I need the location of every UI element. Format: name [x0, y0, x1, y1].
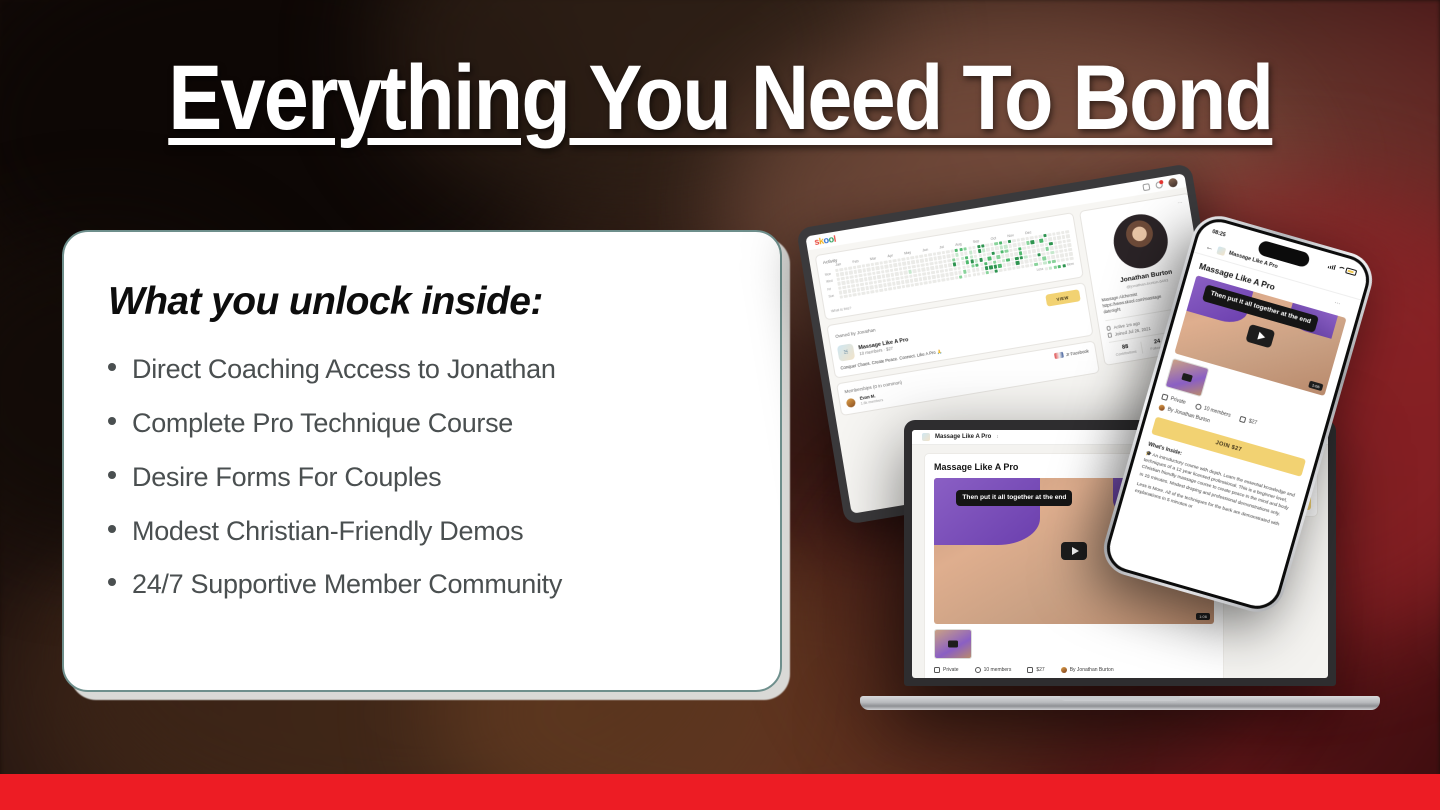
heatmap-cell[interactable] — [924, 258, 928, 262]
heatmap-cell[interactable] — [910, 279, 914, 283]
heatmap-cell[interactable] — [955, 276, 959, 280]
heatmap-cell[interactable] — [994, 265, 998, 269]
heatmap-cell[interactable] — [886, 274, 890, 278]
heatmap-cell[interactable] — [857, 292, 861, 296]
heatmap-cell[interactable] — [929, 257, 933, 261]
heatmap-cell[interactable] — [1047, 233, 1051, 237]
heatmap-cell[interactable] — [941, 278, 945, 282]
heatmap-cell[interactable] — [949, 268, 953, 272]
heatmap-cell[interactable] — [947, 259, 951, 263]
heatmap-cell[interactable] — [933, 257, 937, 261]
heatmap-cell[interactable] — [877, 275, 881, 279]
heatmap-cell[interactable] — [943, 260, 947, 264]
heatmap-cell[interactable] — [1044, 238, 1048, 242]
heatmap-cell[interactable] — [1035, 240, 1039, 244]
heatmap-cell[interactable] — [1039, 235, 1043, 239]
heatmap-cell[interactable] — [968, 274, 972, 278]
heatmap-cell[interactable] — [934, 261, 938, 265]
heatmap-cell[interactable] — [1048, 237, 1052, 241]
heatmap-cell[interactable] — [938, 256, 942, 260]
heatmap-cell[interactable] — [1000, 246, 1004, 250]
heatmap-cell[interactable] — [969, 251, 973, 255]
heatmap-cell[interactable] — [991, 252, 995, 256]
heatmap-cell[interactable] — [1053, 241, 1057, 245]
heatmap-cell[interactable] — [939, 265, 943, 269]
heatmap-cell[interactable] — [992, 256, 996, 260]
heatmap-cell[interactable] — [906, 284, 910, 288]
heatmap-cell[interactable] — [846, 280, 850, 284]
heatmap-cell[interactable] — [1008, 267, 1012, 271]
heatmap-cell[interactable] — [917, 269, 921, 273]
heatmap-cell[interactable] — [1002, 263, 1006, 267]
heatmap-cell[interactable] — [1023, 251, 1027, 255]
heatmap-cell[interactable] — [873, 280, 877, 284]
heatmap-cell[interactable] — [904, 271, 908, 275]
heatmap-cell[interactable] — [926, 267, 930, 271]
heatmap-cell[interactable] — [840, 272, 844, 276]
heatmap-cell[interactable] — [1030, 236, 1034, 240]
heatmap-cell[interactable] — [953, 267, 957, 271]
heatmap-cell[interactable] — [845, 276, 849, 280]
heatmap-cell[interactable] — [916, 264, 920, 268]
heatmap-cell[interactable] — [871, 290, 875, 294]
heatmap-cell[interactable] — [989, 266, 993, 270]
heatmap-cell[interactable] — [1034, 263, 1038, 267]
heatmap-cell[interactable] — [981, 271, 985, 275]
video-thumbnail[interactable] — [1165, 358, 1210, 397]
heatmap-cell[interactable] — [879, 288, 883, 292]
heatmap-cell[interactable] — [956, 257, 960, 261]
heatmap-cell[interactable] — [879, 261, 883, 265]
heatmap-cell[interactable] — [902, 262, 906, 266]
heatmap-cell[interactable] — [913, 269, 917, 273]
heatmap-cell[interactable] — [847, 285, 851, 289]
heatmap-cell[interactable] — [881, 270, 885, 274]
heatmap-cell[interactable] — [896, 277, 900, 281]
heatmap-cell[interactable] — [946, 255, 950, 259]
heatmap-cell[interactable] — [875, 262, 879, 266]
heatmap-cell[interactable] — [960, 257, 964, 261]
heatmap-cell[interactable] — [842, 281, 846, 285]
heatmap-cell[interactable] — [1004, 245, 1008, 249]
heatmap-cell[interactable] — [1038, 257, 1042, 261]
heatmap-cell[interactable] — [918, 273, 922, 277]
heatmap-cell[interactable] — [994, 269, 998, 273]
heatmap-cell[interactable] — [870, 286, 874, 290]
heatmap-cell[interactable] — [854, 274, 858, 278]
heatmap-cell[interactable] — [1065, 230, 1069, 234]
heatmap-cell[interactable] — [851, 280, 855, 284]
heatmap-cell[interactable] — [1017, 243, 1021, 247]
heatmap-cell[interactable] — [1042, 257, 1046, 261]
heatmap-cell[interactable] — [959, 248, 963, 252]
heatmap-cell[interactable] — [951, 254, 955, 258]
heatmap-cell[interactable] — [980, 267, 984, 271]
heatmap-cell[interactable] — [1066, 235, 1070, 239]
heatmap-cell[interactable] — [896, 281, 900, 285]
heatmap-cell[interactable] — [1011, 262, 1015, 266]
heatmap-cell[interactable] — [948, 263, 952, 267]
heatmap-cell[interactable] — [972, 269, 976, 273]
chat-icon[interactable] — [1142, 183, 1150, 191]
heatmap-cell[interactable] — [935, 266, 939, 270]
heatmap-cell[interactable] — [1025, 264, 1029, 268]
heatmap-cell[interactable] — [878, 280, 882, 284]
heatmap-cell[interactable] — [862, 269, 866, 273]
heatmap-cell[interactable] — [840, 295, 844, 299]
heatmap-cell[interactable] — [861, 287, 865, 291]
heatmap-cell[interactable] — [1055, 250, 1059, 254]
heatmap-cell[interactable] — [924, 254, 928, 258]
heatmap-cell[interactable] — [1065, 257, 1069, 261]
heatmap-cell[interactable] — [1047, 260, 1051, 264]
heatmap-cell[interactable] — [865, 282, 869, 286]
heatmap-cell[interactable] — [868, 277, 872, 281]
heatmap-cell[interactable] — [1069, 252, 1073, 256]
heatmap-cell[interactable] — [932, 252, 936, 256]
heatmap-cell[interactable] — [1016, 261, 1020, 265]
heatmap-cell[interactable] — [1061, 231, 1065, 235]
heatmap-cell[interactable] — [839, 291, 843, 295]
heatmap-cell[interactable] — [990, 243, 994, 247]
heatmap-cell[interactable] — [1064, 253, 1068, 257]
heatmap-cell[interactable] — [995, 246, 999, 250]
play-button-icon[interactable] — [1061, 542, 1087, 560]
heatmap-cell[interactable] — [1037, 253, 1041, 257]
heatmap-cell[interactable] — [844, 267, 848, 271]
heatmap-cell[interactable] — [1051, 255, 1055, 259]
heatmap-cell[interactable] — [925, 263, 929, 267]
heatmap-cell[interactable] — [954, 271, 958, 275]
heatmap-cell[interactable] — [981, 244, 985, 248]
heatmap-cell[interactable] — [973, 250, 977, 254]
heatmap-cell[interactable] — [935, 270, 939, 274]
heatmap-cell[interactable] — [876, 266, 880, 270]
heatmap-cell[interactable] — [899, 267, 903, 271]
heatmap-cell[interactable] — [922, 272, 926, 276]
heatmap-cell[interactable] — [1050, 246, 1054, 250]
heatmap-cell[interactable] — [1020, 260, 1024, 264]
heatmap-cell[interactable] — [970, 260, 974, 264]
heatmap-cell[interactable] — [895, 272, 899, 276]
heatmap-cell[interactable] — [1036, 249, 1040, 253]
heatmap-cell[interactable] — [902, 285, 906, 289]
heatmap-cell[interactable] — [868, 272, 872, 276]
heatmap-cell[interactable] — [844, 294, 848, 298]
heatmap-cell[interactable] — [986, 271, 990, 275]
heatmap-cell[interactable] — [986, 243, 990, 247]
heatmap-cell[interactable] — [843, 290, 847, 294]
heatmap-cell[interactable] — [998, 264, 1002, 268]
heatmap-cell[interactable] — [1049, 242, 1053, 246]
heatmap-cell[interactable] — [944, 269, 948, 273]
heatmap-cell[interactable] — [937, 279, 941, 283]
heatmap-cell[interactable] — [929, 262, 933, 266]
heatmap-cell[interactable] — [1001, 254, 1005, 258]
heatmap-cell[interactable] — [1058, 240, 1062, 244]
heatmap-cell[interactable] — [988, 257, 992, 261]
heatmap-cell[interactable] — [885, 269, 889, 273]
heatmap-cell[interactable] — [1013, 243, 1017, 247]
heatmap-cell[interactable] — [880, 266, 884, 270]
heatmap-cell[interactable] — [1060, 254, 1064, 258]
heatmap-cell[interactable] — [867, 268, 871, 272]
heatmap-cell[interactable] — [928, 253, 932, 257]
heatmap-cell[interactable] — [963, 274, 967, 278]
heatmap-cell[interactable] — [1031, 245, 1035, 249]
heatmap-cell[interactable] — [1008, 244, 1012, 248]
heatmap-cell[interactable] — [1019, 256, 1023, 260]
heatmap-cell[interactable] — [863, 273, 867, 277]
heatmap-cell[interactable] — [921, 268, 925, 272]
heatmap-cell[interactable] — [888, 260, 892, 264]
heatmap-cell[interactable] — [1006, 258, 1010, 262]
heatmap-cell[interactable] — [889, 264, 893, 268]
heatmap-cell[interactable] — [884, 288, 888, 292]
heatmap-cell[interactable] — [838, 286, 842, 290]
heatmap-cell[interactable] — [988, 261, 992, 265]
heatmap-cell[interactable] — [875, 289, 879, 293]
heatmap-cell[interactable] — [946, 250, 950, 254]
heatmap-cell[interactable] — [1003, 240, 1007, 244]
heatmap-cell[interactable] — [888, 287, 892, 291]
heatmap-cell[interactable] — [835, 269, 839, 273]
heatmap-cell[interactable] — [859, 278, 863, 282]
heatmap-cell[interactable] — [1025, 237, 1029, 241]
heatmap-cell[interactable] — [1039, 262, 1043, 266]
heatmap-cell[interactable] — [927, 276, 931, 280]
heatmap-cell[interactable] — [852, 288, 856, 292]
heatmap-cell[interactable] — [1067, 243, 1071, 247]
heatmap-cell[interactable] — [972, 273, 976, 277]
heatmap-cell[interactable] — [957, 262, 961, 266]
heatmap-cell[interactable] — [1025, 260, 1029, 264]
heatmap-cell[interactable] — [1030, 263, 1034, 267]
heatmap-cell[interactable] — [950, 249, 954, 253]
heatmap-cell[interactable] — [1010, 253, 1014, 257]
heatmap-cell[interactable] — [983, 257, 987, 261]
avatar[interactable] — [1168, 177, 1178, 187]
heatmap-cell[interactable] — [904, 275, 908, 279]
heatmap-cell[interactable] — [972, 246, 976, 250]
heatmap-cell[interactable] — [1003, 268, 1007, 272]
heatmap-cell[interactable] — [924, 281, 928, 285]
heatmap-cell[interactable] — [980, 263, 984, 267]
heatmap-cell[interactable] — [941, 274, 945, 278]
heatmap-cell[interactable] — [1012, 266, 1016, 270]
heatmap-cell[interactable] — [999, 241, 1003, 245]
heatmap-cell[interactable] — [1005, 249, 1009, 253]
heatmap-cell[interactable] — [897, 286, 901, 290]
heatmap-cell[interactable] — [857, 288, 861, 292]
heatmap-cell[interactable] — [927, 271, 931, 275]
heatmap-cell[interactable] — [955, 253, 959, 257]
heatmap-cell[interactable] — [897, 258, 901, 262]
heatmap-cell[interactable] — [1034, 235, 1038, 239]
heatmap-cell[interactable] — [1008, 240, 1012, 244]
heatmap-cell[interactable] — [923, 277, 927, 281]
heatmap-cell[interactable] — [1033, 258, 1037, 262]
heatmap-cell[interactable] — [1019, 252, 1023, 256]
heatmap-cell[interactable] — [940, 269, 944, 273]
chevron-down-icon[interactable]: ↕ — [996, 434, 999, 440]
heatmap-cell[interactable] — [975, 263, 979, 267]
video-thumbnail[interactable] — [934, 629, 972, 659]
heatmap-cell[interactable] — [1016, 238, 1020, 242]
heatmap-cell[interactable] — [855, 279, 859, 283]
heatmap-cell[interactable] — [853, 266, 857, 270]
heatmap-cell[interactable] — [856, 283, 860, 287]
heatmap-cell[interactable] — [950, 277, 954, 281]
heatmap-cell[interactable] — [1059, 249, 1063, 253]
heatmap-cell[interactable] — [1054, 246, 1058, 250]
heatmap-cell[interactable] — [942, 255, 946, 259]
heatmap-cell[interactable] — [921, 263, 925, 267]
heatmap-cell[interactable] — [982, 249, 986, 253]
heatmap-cell[interactable] — [963, 247, 967, 251]
heatmap-cell[interactable] — [873, 276, 877, 280]
heatmap-cell[interactable] — [853, 293, 857, 297]
heatmap-cell[interactable] — [879, 284, 883, 288]
heatmap-cell[interactable] — [910, 283, 914, 287]
heatmap-cell[interactable] — [892, 282, 896, 286]
heatmap-cell[interactable] — [968, 246, 972, 250]
heatmap-cell[interactable] — [908, 270, 912, 274]
heatmap-cell[interactable] — [1028, 254, 1032, 258]
heatmap-cell[interactable] — [1043, 234, 1047, 238]
heatmap-cell[interactable] — [841, 277, 845, 281]
heatmap-cell[interactable] — [906, 257, 910, 261]
play-button-icon[interactable] — [1245, 323, 1275, 347]
heatmap-cell[interactable] — [907, 261, 911, 265]
heatmap-cell[interactable] — [907, 266, 911, 270]
heatmap-cell[interactable] — [993, 260, 997, 264]
heatmap-cell[interactable] — [1050, 251, 1054, 255]
heatmap-cell[interactable] — [1045, 247, 1049, 251]
heatmap-cell[interactable] — [1070, 257, 1074, 261]
heatmap-cell[interactable] — [915, 260, 919, 264]
heatmap-cell[interactable] — [1061, 235, 1065, 239]
heatmap-cell[interactable] — [887, 283, 891, 287]
heatmap-cell[interactable] — [978, 254, 982, 258]
heatmap-cell[interactable] — [1012, 239, 1016, 243]
heatmap-cell[interactable] — [987, 252, 991, 256]
heatmap-cell[interactable] — [1032, 249, 1036, 253]
heatmap-cell[interactable] — [874, 285, 878, 289]
heatmap-cell[interactable] — [974, 254, 978, 258]
heatmap-cell[interactable] — [1011, 257, 1015, 261]
heatmap-cell[interactable] — [955, 249, 959, 253]
heatmap-cell[interactable] — [843, 286, 847, 290]
heatmap-cell[interactable] — [1041, 248, 1045, 252]
heatmap-cell[interactable] — [936, 274, 940, 278]
heatmap-cell[interactable] — [1068, 248, 1072, 252]
heatmap-cell[interactable] — [977, 249, 981, 253]
heatmap-cell[interactable] — [882, 279, 886, 283]
heatmap-cell[interactable] — [915, 255, 919, 259]
heatmap-cell[interactable] — [865, 286, 869, 290]
heatmap-cell[interactable] — [919, 282, 923, 286]
heatmap-cell[interactable] — [1057, 236, 1061, 240]
heatmap-cell[interactable] — [1046, 251, 1050, 255]
heatmap-cell[interactable] — [931, 271, 935, 275]
heatmap-cell[interactable] — [1067, 239, 1071, 243]
heatmap-cell[interactable] — [1059, 245, 1063, 249]
heatmap-cell[interactable] — [1052, 260, 1056, 264]
heatmap-cell[interactable] — [1005, 254, 1009, 258]
heatmap-cell[interactable] — [850, 275, 854, 279]
heatmap-cell[interactable] — [885, 265, 889, 269]
heatmap-cell[interactable] — [1036, 244, 1040, 248]
heatmap-cell[interactable] — [909, 274, 913, 278]
heatmap-cell[interactable] — [898, 263, 902, 267]
heatmap-cell[interactable] — [882, 274, 886, 278]
heatmap-cell[interactable] — [966, 265, 970, 269]
heatmap-cell[interactable] — [915, 283, 919, 287]
heatmap-cell[interactable] — [845, 272, 849, 276]
heatmap-cell[interactable] — [1053, 237, 1057, 241]
heatmap-cell[interactable] — [1018, 247, 1022, 251]
heatmap-cell[interactable] — [994, 242, 998, 246]
heatmap-cell[interactable] — [1029, 259, 1033, 263]
heatmap-cell[interactable] — [894, 268, 898, 272]
heatmap-cell[interactable] — [891, 277, 895, 281]
heatmap-cell[interactable] — [849, 271, 853, 275]
heatmap-cell[interactable] — [1028, 250, 1032, 254]
heatmap-cell[interactable] — [1064, 249, 1068, 253]
heatmap-cell[interactable] — [941, 251, 945, 255]
heatmap-cell[interactable] — [910, 256, 914, 260]
heatmap-cell[interactable] — [914, 278, 918, 282]
heatmap-cell[interactable] — [1044, 243, 1048, 247]
heatmap-cell[interactable] — [977, 245, 981, 249]
heatmap-cell[interactable] — [997, 260, 1001, 264]
heatmap-cell[interactable] — [1014, 248, 1018, 252]
heatmap-cell[interactable] — [1007, 263, 1011, 267]
heatmap-cell[interactable] — [900, 276, 904, 280]
heatmap-cell[interactable] — [857, 265, 861, 269]
heatmap-cell[interactable] — [1030, 240, 1034, 244]
back-arrow-icon[interactable]: ← — [1205, 243, 1215, 253]
heatmap-cell[interactable] — [862, 264, 866, 268]
heatmap-cell[interactable] — [1024, 255, 1028, 259]
heatmap-cell[interactable] — [837, 282, 841, 286]
heatmap-cell[interactable] — [958, 271, 962, 275]
heatmap-cell[interactable] — [997, 255, 1001, 259]
heatmap-cell[interactable] — [1056, 259, 1060, 263]
heatmap-cell[interactable] — [928, 280, 932, 284]
heatmap-cell[interactable] — [1052, 232, 1056, 236]
heatmap-cell[interactable] — [944, 264, 948, 268]
heatmap-cell[interactable] — [1015, 257, 1019, 261]
heatmap-cell[interactable] — [1043, 261, 1047, 265]
heatmap-cell[interactable] — [1016, 266, 1020, 270]
heatmap-cell[interactable] — [911, 260, 915, 264]
heatmap-cell[interactable] — [871, 267, 875, 271]
heatmap-cell[interactable] — [999, 268, 1003, 272]
heatmap-cell[interactable] — [1009, 249, 1013, 253]
heatmap-cell[interactable] — [979, 258, 983, 262]
heatmap-cell[interactable] — [1026, 241, 1030, 245]
heatmap-cell[interactable] — [837, 277, 841, 281]
heatmap-cell[interactable] — [990, 270, 994, 274]
heatmap-cell[interactable] — [893, 259, 897, 263]
view-button[interactable]: VIEW — [1045, 290, 1081, 307]
heatmap-cell[interactable] — [960, 252, 964, 256]
heatmap-cell[interactable] — [986, 248, 990, 252]
heatmap-cell[interactable] — [932, 275, 936, 279]
heatmap-cell[interactable] — [945, 273, 949, 277]
